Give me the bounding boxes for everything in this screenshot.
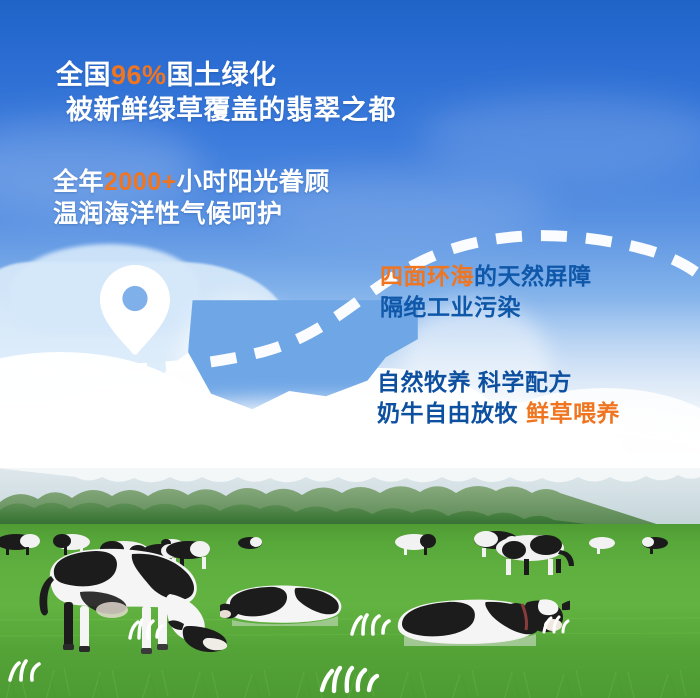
pasture-photo-band	[0, 468, 700, 698]
grass-tuft-doodle-3	[540, 612, 570, 634]
sea-line2: 隔绝工业污染	[380, 293, 592, 322]
grass-tuft-doodle-left-bottom	[6, 654, 46, 682]
headline-greening: 全国96%国土绿化 被新鲜绿草覆盖的翡翠之都	[56, 58, 396, 127]
sunlight-line2: 温润海洋性气候呵护	[53, 198, 330, 230]
cloud-wisp-top-right	[420, 96, 700, 176]
sea-highlight-surrounded: 四面环海	[380, 263, 474, 289]
grass-tuft-doodle-2	[348, 610, 392, 636]
sunlight-highlight-2000: 2000+	[104, 168, 177, 196]
sunlight-line1-pre: 全年	[53, 168, 104, 196]
pasture-line2-pre: 奶牛自由放牧	[377, 400, 518, 426]
greening-line2: 被新鲜绿草覆盖的翡翠之都	[66, 93, 396, 128]
greening-line1-pre: 全国	[56, 60, 111, 90]
grass-tuft-doodle-1	[126, 616, 164, 640]
headline-sea-barrier: 四面环海的天然屏障 隔绝工业污染	[380, 262, 592, 323]
headline-pasture: 自然牧养 科学配方 奶牛自由放牧鲜草喂养	[377, 368, 620, 429]
pasture-highlight-fresh-grass: 鲜草喂养	[526, 400, 620, 426]
sunlight-line1-post: 小时阳光眷顾	[177, 168, 330, 196]
sea-line1-post: 的天然屏障	[474, 263, 592, 289]
location-pin-icon	[98, 264, 172, 356]
poster-root: 全国96%国土绿化 被新鲜绿草覆盖的翡翠之都 全年2000+小时阳光眷顾 温润海…	[0, 0, 700, 698]
foreground-cow-grazing	[20, 534, 230, 664]
pasture-line1: 自然牧养 科学配方	[377, 368, 620, 397]
headline-sunlight: 全年2000+小时阳光眷顾 温润海洋性气候呵护	[53, 166, 330, 230]
greening-highlight-96: 96%	[111, 60, 167, 90]
scallop-edge	[0, 468, 700, 494]
foreground-cow-lying-left	[220, 568, 350, 628]
greening-line1-post: 国土绿化	[167, 60, 277, 90]
grass-tuft-doodle-bottom	[316, 660, 382, 694]
